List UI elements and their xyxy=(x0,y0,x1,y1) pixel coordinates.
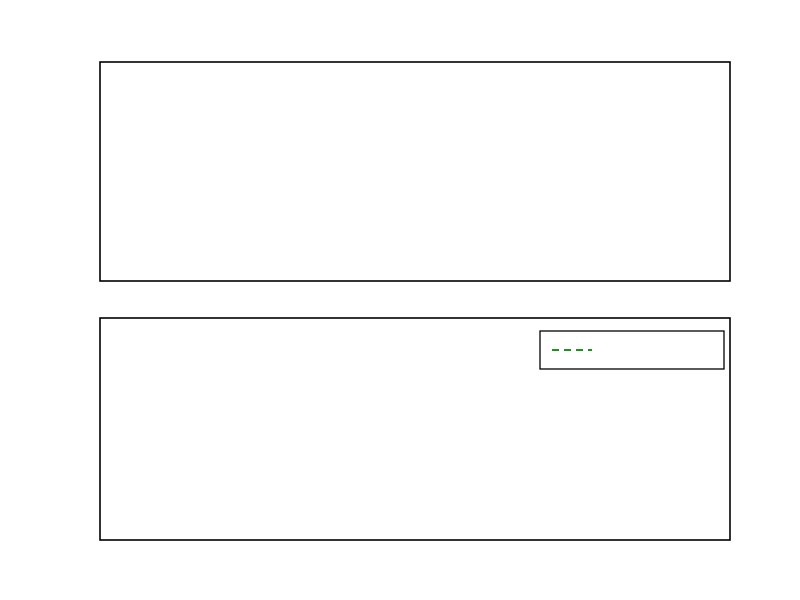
matplotlib-figure xyxy=(0,0,800,600)
figure-canvas xyxy=(0,0,800,600)
legend[interactable] xyxy=(540,331,724,369)
figure-background xyxy=(0,0,800,600)
